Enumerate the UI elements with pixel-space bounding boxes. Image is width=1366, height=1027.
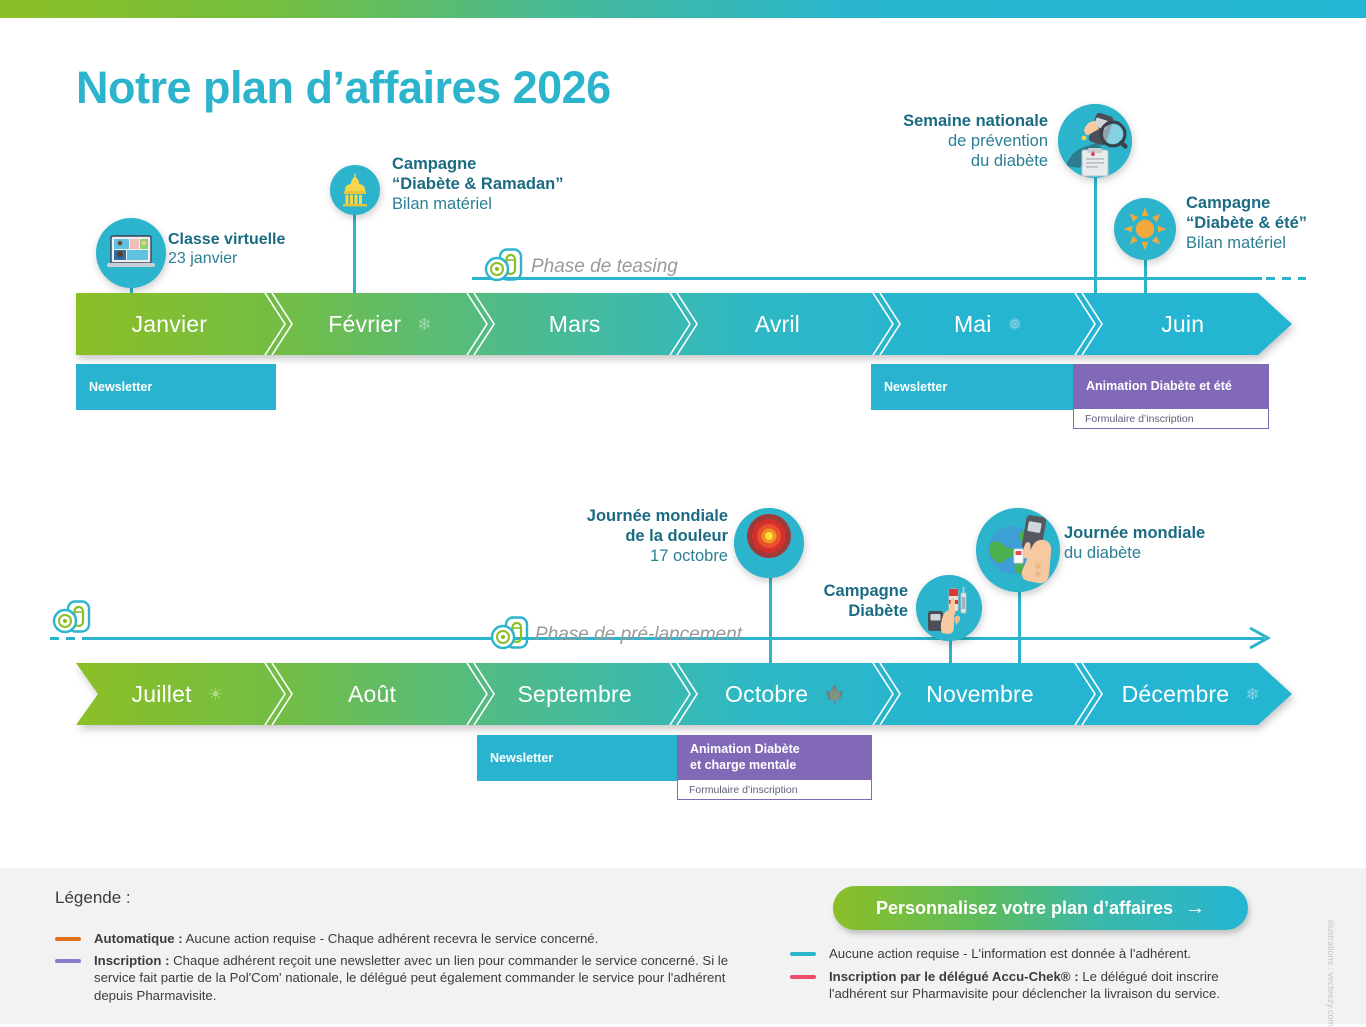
service-label: Newsletter — [89, 380, 152, 394]
legend-item-aucune-action: Aucune action requise - L'information es… — [790, 945, 1270, 962]
legend-title: Légende : — [55, 888, 131, 908]
milestone-title-line2: Diabète — [760, 602, 908, 622]
form-link-diabete-et-ete[interactable]: Formulaire d’inscription — [1073, 408, 1269, 429]
month-label: Novembre — [926, 681, 1034, 708]
month-bar-row1: Janvier Février ❄ Mars — [76, 293, 1292, 355]
milestone-title-line1: Campagne — [760, 582, 908, 602]
milestone-title-line2: de la douleur — [520, 527, 728, 547]
legend-swatch-lilac — [55, 959, 81, 963]
service-label-wrap: Animation Diabète et charge mentale — [690, 741, 800, 773]
form-link-charge-mentale[interactable]: Formulaire d’inscription — [677, 779, 872, 800]
season-glyph: ❄ — [417, 316, 431, 333]
month-label: Juin — [1161, 311, 1204, 338]
month-janvier[interactable]: Janvier — [76, 293, 279, 355]
month-avril[interactable]: Avril — [684, 293, 887, 355]
legend-swatch-teal — [790, 952, 816, 956]
world-diabetes-icon — [976, 508, 1060, 592]
arrow-right-icon: → — [1185, 897, 1205, 920]
month-mai[interactable]: Mai ❅ — [887, 293, 1090, 355]
milestone-title-line1: Campagne — [1186, 194, 1307, 214]
cta-label: Personnalisez votre plan d’affaires — [876, 898, 1173, 919]
milestone-label-ramadan: Campagne “Diabète & Ramadan” Bilan matér… — [392, 155, 563, 214]
milestone-stem-journee-diabete — [1018, 588, 1021, 663]
pain-target-icon — [734, 508, 804, 578]
service-label-line1: Animation Diabète — [690, 741, 800, 757]
milestone-stem-semaine-nationale — [1094, 170, 1097, 293]
service-label-line2: et charge mentale — [690, 757, 800, 773]
personnalisez-plan-button[interactable]: Personnalisez votre plan d’affaires → — [833, 886, 1248, 930]
legend-text: Chaque adhérent reçoit une newsletter av… — [94, 953, 728, 1003]
milestone-subtitle-line1: de prévention — [848, 132, 1048, 152]
diabetes-kit-icon — [916, 575, 982, 641]
month-label: Août — [348, 681, 396, 708]
glucometer-lancet-icon-row1 — [484, 248, 524, 287]
season-glyph: 🍁 — [824, 686, 845, 703]
month-juin[interactable]: Juin — [1089, 293, 1292, 355]
milestone-subtitle-line2: du diabète — [848, 152, 1048, 172]
milestone-title: Classe virtuelle — [168, 230, 285, 249]
milestone-label-diabete-ete: Campagne “Diabète & été” Bilan matériel — [1186, 194, 1307, 253]
service-label: Animation Diabète et été — [1086, 379, 1232, 393]
phase-label-row2: Phase de pré-lancement — [535, 624, 742, 646]
milestone-label-journee-douleur: Journée mondiale de la douleur 17 octobr… — [520, 507, 728, 566]
month-label: Juillet — [132, 681, 192, 708]
milestone-label-classe-virtuelle: Classe virtuelle 23 janvier — [168, 230, 285, 268]
milestone-subtitle: Bilan matériel — [1186, 234, 1307, 254]
service-newsletter-septembre[interactable]: Newsletter — [477, 735, 677, 781]
virtual-classroom-icon — [96, 218, 166, 288]
milestone-label-semaine-nationale: Semaine nationale de prévention du diabè… — [848, 112, 1048, 171]
sun-icon — [1114, 198, 1176, 260]
month-mars[interactable]: Mars — [481, 293, 684, 355]
legend-item-inscription-delegue: Inscription par le délégué Accu-Chek® : … — [790, 968, 1270, 1003]
service-label: Newsletter — [884, 380, 947, 394]
season-glyph: ❅ — [1008, 316, 1022, 333]
legend-swatch-pink — [790, 975, 816, 979]
service-newsletter-janvier[interactable]: Newsletter — [76, 364, 276, 410]
month-juillet[interactable]: Juillet ☀ — [76, 663, 279, 725]
service-label: Newsletter — [490, 751, 553, 765]
milestone-title-line2: “Diabète & été” — [1186, 214, 1307, 234]
milestone-title: Journée mondiale — [1064, 524, 1205, 544]
glucometer-lancet-icon-row2 — [490, 616, 530, 655]
milestone-title-line1: Journée mondiale — [520, 507, 728, 527]
glucometer-lancet-icon-row2-left — [52, 600, 92, 639]
legend-label: Automatique : — [94, 931, 183, 946]
legend-swatch-orange — [55, 937, 81, 941]
month-label: Octobre — [725, 681, 808, 708]
milestone-subtitle: 23 janvier — [168, 249, 285, 268]
month-octobre[interactable]: Octobre 🍁 — [684, 663, 887, 725]
milestone-title: Semaine nationale — [848, 112, 1048, 132]
month-label: Septembre — [518, 681, 632, 708]
page-title: Notre plan d’affaires 2026 — [76, 62, 611, 114]
phase-label-row1: Phase de teasing — [531, 256, 678, 278]
legend-item-inscription: Inscription : Chaque adhérent reçoit une… — [55, 952, 755, 1004]
mosque-icon — [330, 165, 380, 215]
month-label: Mars — [549, 311, 601, 338]
milestone-title-line2: “Diabète & Ramadan” — [392, 175, 563, 195]
milestone-subtitle: du diabète — [1064, 544, 1205, 564]
month-decembre[interactable]: Décembre ❄ — [1089, 663, 1292, 725]
month-label: Mai — [954, 311, 992, 338]
glucometer-report-icon — [1058, 104, 1132, 178]
service-animation-charge-mentale[interactable]: Animation Diabète et charge mentale — [677, 735, 872, 779]
legend-label: Inscription par le délégué Accu-Chek® : — [829, 969, 1079, 984]
top-accent-strip — [0, 0, 1366, 18]
legend-item-automatique: Automatique : Aucune action requise - Ch… — [55, 930, 755, 947]
form-label: Formulaire d’inscription — [1085, 413, 1194, 425]
form-label: Formulaire d’inscription — [689, 784, 798, 796]
phase-line-row1-dashes — [1266, 277, 1306, 280]
season-glyph: ❄ — [1245, 686, 1259, 703]
month-label: Avril — [755, 311, 800, 338]
service-newsletter-mai[interactable]: Newsletter — [871, 364, 1073, 410]
phase-line-row2-arrowhead — [1248, 626, 1274, 655]
milestone-label-campagne-diabete: Campagne Diabète — [760, 582, 908, 622]
month-label: Janvier — [132, 311, 208, 338]
service-animation-diabete-et-ete[interactable]: Animation Diabète et été — [1073, 364, 1269, 408]
milestone-subtitle: Bilan matériel — [392, 195, 563, 215]
milestone-stem-ramadan — [353, 215, 356, 293]
month-septembre[interactable]: Septembre — [481, 663, 684, 725]
milestone-subtitle: 17 octobre — [520, 547, 728, 567]
month-novembre[interactable]: Novembre — [887, 663, 1090, 725]
credit-text: illustrations : vecteezy.com — [1326, 920, 1336, 1027]
month-label: Février — [328, 311, 401, 338]
season-glyph: ☀ — [208, 686, 223, 703]
legend-text: Aucune action requise - L'information es… — [829, 946, 1191, 961]
legend-text: Aucune action requise - Chaque adhérent … — [183, 931, 599, 946]
month-label: Décembre — [1122, 681, 1230, 708]
month-aout[interactable]: Août — [279, 663, 482, 725]
month-bar-row2: Juillet ☀ Août Septembre — [76, 663, 1292, 725]
month-fevrier[interactable]: Février ❄ — [279, 293, 482, 355]
milestone-label-journee-diabete: Journée mondiale du diabète — [1064, 524, 1205, 564]
milestone-title-line1: Campagne — [392, 155, 563, 175]
legend-label: Inscription : — [94, 953, 169, 968]
